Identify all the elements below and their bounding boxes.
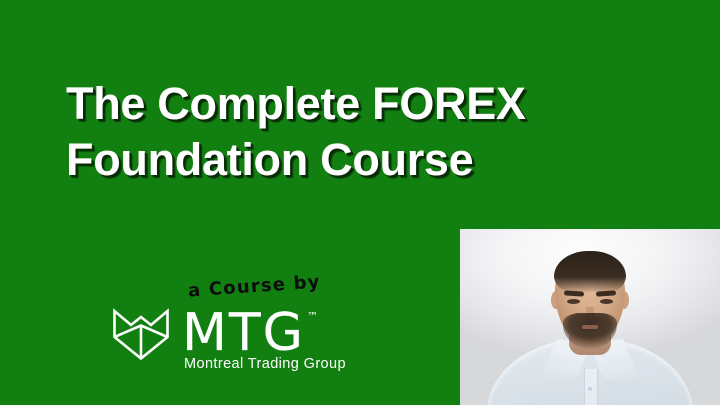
mtg-wordmark: MTG bbox=[182, 307, 305, 359]
presenter-hair bbox=[554, 251, 626, 293]
logo-row: MTG ™ bbox=[112, 306, 318, 360]
mtg-wordmark-group: MTG ™ bbox=[182, 307, 318, 359]
title-line-2: Foundation Course bbox=[66, 132, 646, 188]
trademark-symbol: ™ bbox=[307, 311, 318, 322]
mtg-fox-head-icon bbox=[112, 306, 170, 360]
presenter-mouth bbox=[582, 325, 598, 329]
presenter-webcam-panel bbox=[460, 229, 720, 405]
title-line-1: The Complete FOREX bbox=[66, 76, 646, 132]
presenter-eye-left bbox=[567, 299, 580, 304]
brand-logo-lockup: a Course by MTG ™ Montreal Trading Group bbox=[112, 276, 362, 391]
logo-subtitle: Montreal Trading Group bbox=[184, 356, 346, 372]
course-title-slide: The Complete FOREX Foundation Course a C… bbox=[0, 0, 720, 405]
course-by-tagline: a Course by bbox=[187, 271, 321, 301]
presenter-figure bbox=[460, 229, 720, 405]
presenter-eye-right bbox=[600, 299, 613, 304]
page-title: The Complete FOREX Foundation Course bbox=[66, 76, 646, 188]
